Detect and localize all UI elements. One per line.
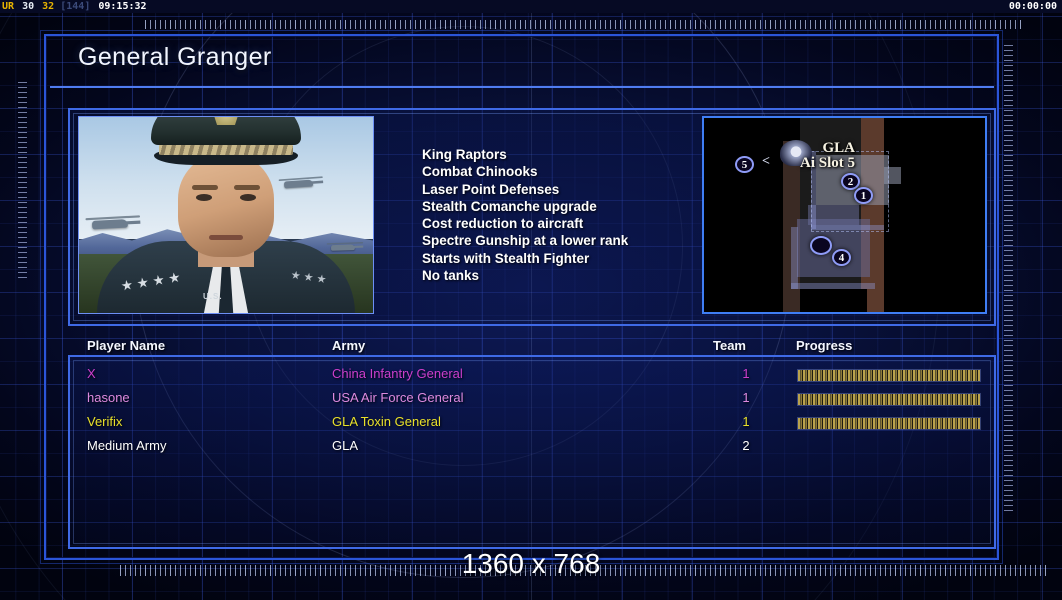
chevron-left-icon: < <box>762 154 770 170</box>
title-panel: General Granger <box>50 40 994 88</box>
player-team-cell: 1 <box>736 366 756 381</box>
map-start-position-1[interactable]: 1 <box>854 187 873 204</box>
resolution-overlay: 1360 x 768 <box>0 548 1062 580</box>
officer-figure: U.S. <box>111 137 341 313</box>
fps-alt-value: 32 <box>40 1 54 12</box>
player-team-cell: 2 <box>736 438 756 453</box>
player-progress-bar <box>798 370 980 381</box>
match-timer: 00:00:00 <box>1009 0 1057 13</box>
ability-item: Laser Point Defenses <box>422 181 732 198</box>
ability-item: No tanks <box>422 267 732 284</box>
face <box>178 153 274 257</box>
table-row[interactable]: hasoneUSA Air Force General1 <box>76 390 1006 414</box>
map-tooltip-slot: Ai Slot 5 <box>800 156 855 171</box>
ability-list: King Raptors Combat Chinooks Laser Point… <box>422 146 732 284</box>
ruler-left <box>18 82 27 282</box>
ruler-top <box>145 20 1025 29</box>
column-header-progress: Progress <box>796 338 852 353</box>
map-start-position-5[interactable]: 5 <box>735 156 754 173</box>
column-header-team: Team <box>713 338 746 353</box>
map-start-position-2[interactable]: 2 <box>841 173 860 190</box>
player-army-cell: GLA Toxin General <box>332 414 441 429</box>
game-screen: UR 30 32 [144] 09:15:32 00:00:00 General… <box>0 0 1062 600</box>
player-table-header: Player Name Army Team Progress <box>76 338 1006 358</box>
map-tooltip-faction: GLA <box>800 141 855 156</box>
column-header-army: Army <box>332 338 365 353</box>
table-row[interactable]: XChina Infantry General1 <box>76 366 1006 390</box>
ability-item: King Raptors <box>422 146 732 163</box>
map-start-position-empty[interactable] <box>810 236 832 255</box>
top-status-bar: UR 30 32 [144] 09:15:32 00:00:00 <box>0 0 1062 13</box>
table-row[interactable]: Medium ArmyGLA2 <box>76 438 1006 462</box>
fps-bracket: [144] <box>60 1 90 12</box>
player-army-cell: GLA <box>332 438 358 453</box>
player-army-cell: China Infantry General <box>332 366 463 381</box>
fps-value: 30 <box>20 1 34 12</box>
player-name-cell: Medium Army <box>87 438 166 453</box>
map-start-position-4[interactable]: 4 <box>832 249 851 266</box>
player-name-cell: hasone <box>87 390 130 405</box>
player-team-cell: 1 <box>736 390 756 405</box>
ability-item: Spectre Gunship at a lower rank <box>422 232 732 249</box>
page-title: General Granger <box>78 43 272 72</box>
map-slot-tooltip: GLA Ai Slot 5 <box>800 141 855 171</box>
player-army-cell: USA Air Force General <box>332 390 464 405</box>
column-header-player-name: Player Name <box>87 338 165 353</box>
player-progress-bar <box>798 394 980 405</box>
ability-item: Combat Chinooks <box>422 163 732 180</box>
fps-label: UR <box>0 1 14 12</box>
ability-item: Stealth Comanche upgrade <box>422 198 732 215</box>
ability-item: Cost reduction to aircraft <box>422 215 732 232</box>
player-name-cell: Verifix <box>87 414 122 429</box>
general-portrait: U.S. <box>78 116 374 314</box>
player-progress-bar <box>798 418 980 429</box>
us-insignia: U.S. <box>203 292 223 301</box>
player-team-cell: 1 <box>736 414 756 429</box>
system-clock: 09:15:32 <box>96 1 146 12</box>
map-preview[interactable]: 5 2 1 4 < GLA Ai Slot 5 <box>702 116 987 314</box>
general-info-panel: U.S. King Raptors Combat Chinooks Laser … <box>68 108 996 326</box>
table-row[interactable]: VerifixGLA Toxin General1 <box>76 414 1006 438</box>
player-name-cell: X <box>87 366 96 381</box>
ability-item: Starts with Stealth Fighter <box>422 250 732 267</box>
